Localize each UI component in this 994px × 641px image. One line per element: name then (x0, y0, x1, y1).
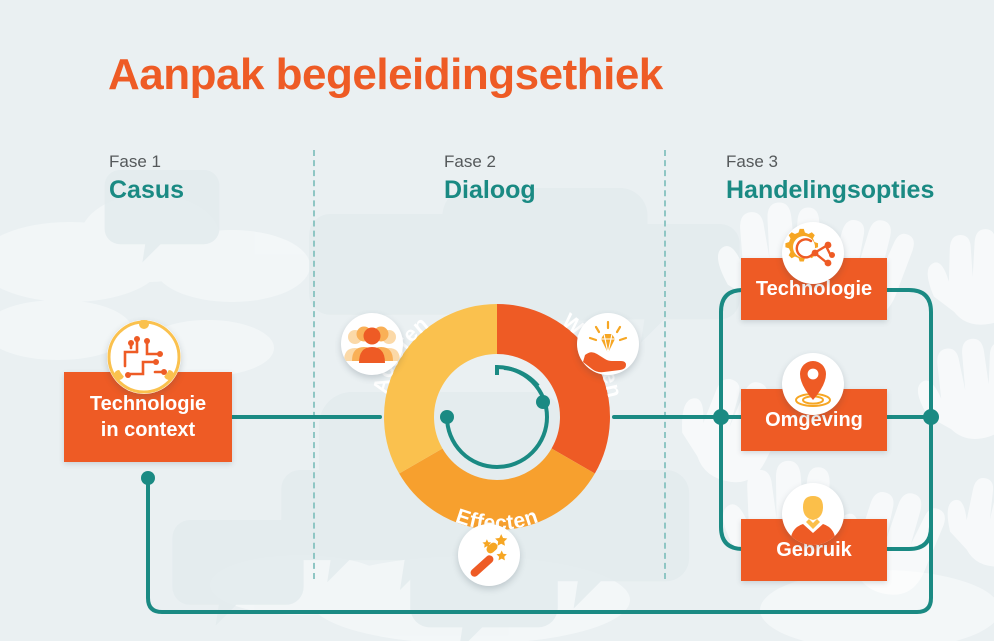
center-arrow-tail (504, 368, 538, 386)
map-pin-icon (782, 353, 844, 415)
infographic-canvas: Aanpak begeleidingsethiek Fase 1 Casus F… (0, 0, 994, 641)
feedback-start-dot (141, 471, 155, 485)
circuit-board-icon (107, 320, 181, 394)
center-arrow-dots (440, 395, 550, 424)
connector-junction-to-technologie (721, 290, 743, 417)
group-of-people-icon (341, 313, 403, 375)
connector-gebruik-to-right-trunk (887, 417, 931, 549)
donut-segments (409, 329, 585, 505)
gear-network-icon (782, 222, 844, 284)
junction-dot-left (713, 409, 729, 425)
connector-junction-to-gebruik (721, 417, 743, 549)
box-tech-context-line1: Technologie (90, 391, 206, 417)
box-tech-context-line2: in context (90, 417, 206, 443)
person-avatar-icon (782, 483, 844, 545)
connector-technologie-to-right-trunk (887, 290, 931, 417)
junction-dot-right (923, 409, 939, 425)
magic-wand-icon (458, 524, 520, 586)
hand-with-diamond-icon (577, 313, 639, 375)
